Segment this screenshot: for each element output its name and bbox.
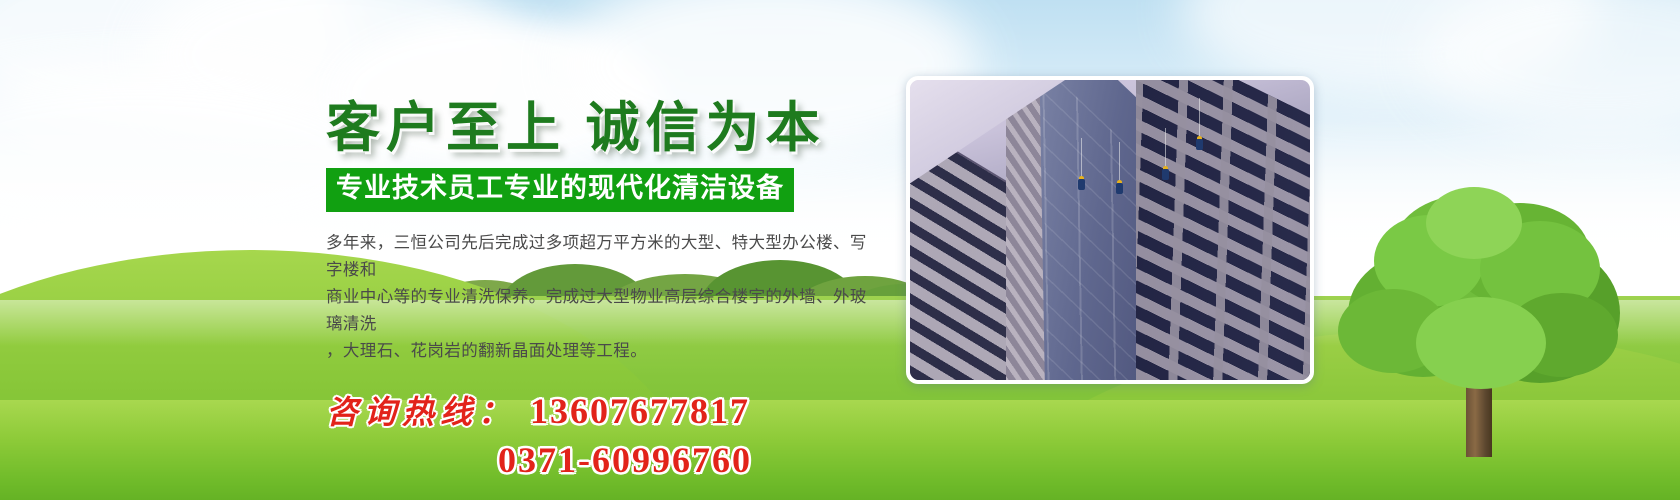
body-line: 商业中心等的专业清洗保养。完成过大型物业高层综合楼宇的外墙、外玻璃清洗 [326, 284, 878, 338]
hotline-alt-number[interactable]: 0371-60996760 [498, 439, 906, 481]
building-icon [910, 80, 1310, 380]
hotline-number[interactable]: 13607677817 [530, 390, 750, 432]
subtitle-bar: 专业技术员工专业的现代化清洁设备 [326, 168, 794, 212]
hotline-label: 咨询热线： [326, 387, 516, 433]
tree-icon [1330, 185, 1630, 455]
body-copy: 多年来，三恒公司先后完成过多项超万平方米的大型、特大型办公楼、写字楼和 商业中心… [326, 230, 878, 365]
body-line: ，大理石、花岗岩的翻新晶面处理等工程。 [326, 338, 878, 365]
body-line: 多年来，三恒公司先后完成过多项超万平方米的大型、特大型办公楼、写字楼和 [326, 230, 878, 284]
tower-right-piers [1136, 80, 1310, 380]
hotline-row: 咨询热线： 13607677817 [326, 387, 906, 433]
promo-banner: 客户至上 诚信为本 专业技术员工专业的现代化清洁设备 多年来，三恒公司先后完成过… [0, 0, 1680, 500]
subtitle-text: 专业技术员工专业的现代化清洁设备 [336, 173, 784, 205]
page-title: 客户至上 诚信为本 [326, 96, 906, 160]
building-photo-card[interactable] [906, 76, 1314, 384]
banner-text-block: 客户至上 诚信为本 专业技术员工专业的现代化清洁设备 多年来，三恒公司先后完成过… [326, 96, 906, 481]
